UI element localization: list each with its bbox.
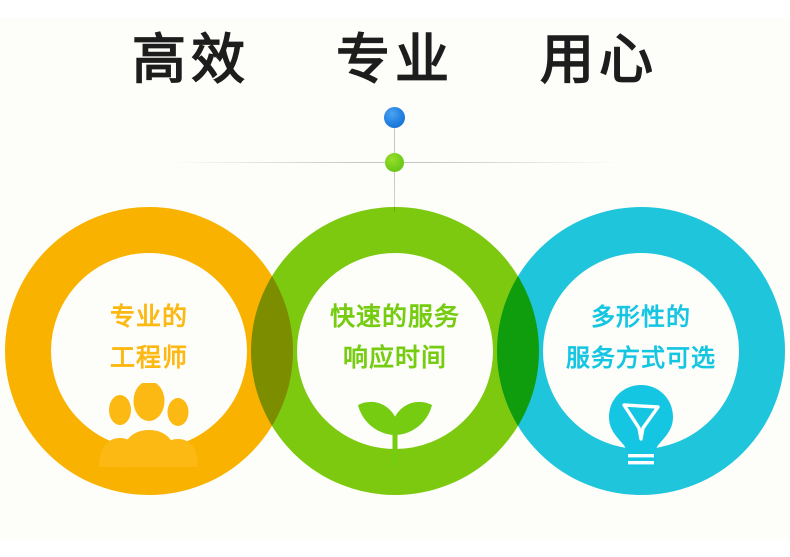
venn-diagram bbox=[0, 205, 790, 500]
ring-response bbox=[251, 207, 539, 495]
ring-engineers bbox=[5, 207, 293, 495]
headline-segment-2: 专业 bbox=[336, 28, 454, 92]
headline-segment-1: 高效 bbox=[132, 28, 250, 92]
page-title: 高效 专业 用心 bbox=[0, 28, 790, 92]
headline-segment-3: 用心 bbox=[540, 28, 658, 92]
blue-pin-dot-icon bbox=[384, 107, 405, 128]
green-pin-dot-icon bbox=[385, 153, 404, 172]
ring-flexible bbox=[497, 207, 785, 495]
pin-ornament bbox=[0, 100, 790, 215]
promo-banner: 高效 专业 用心 专业的 工程师 bbox=[0, 0, 790, 557]
